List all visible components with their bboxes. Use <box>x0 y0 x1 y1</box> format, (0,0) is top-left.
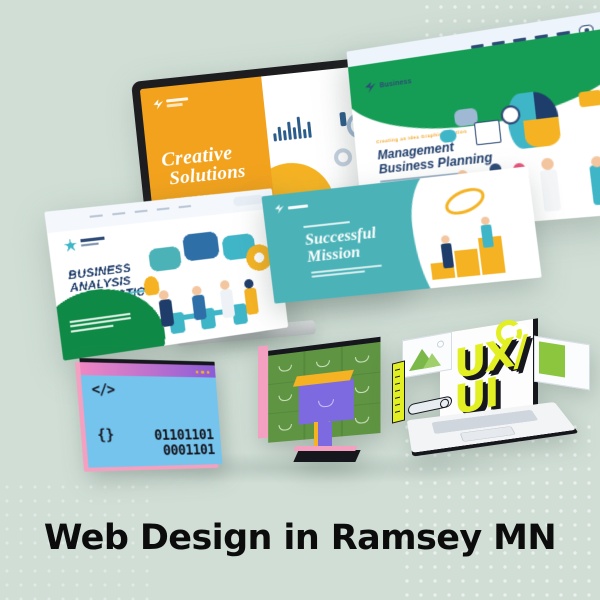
person-figure <box>540 169 561 212</box>
spark-icon <box>153 99 164 110</box>
person-figure <box>192 294 207 320</box>
binary-text: 01101101 0001101 <box>154 427 216 458</box>
speech-bubble <box>182 231 220 262</box>
person-figure <box>589 164 600 205</box>
bar-chart-graphic <box>271 112 312 142</box>
illustration-stage: Creative Solutions Digital Web Solutions… <box>0 0 600 600</box>
curly-brace-icon: {} <box>97 426 115 444</box>
star-icon <box>64 239 78 252</box>
monitor-headline: Creative Solutions <box>160 143 246 189</box>
cabinet-base <box>293 450 360 462</box>
tag-graphic <box>578 90 600 108</box>
ruler-icon <box>392 360 405 423</box>
binary-line-2: 0001101 <box>162 441 215 459</box>
card-logo-text <box>80 237 105 249</box>
gear-icon <box>333 147 353 167</box>
cabinet-side-panel <box>258 345 268 438</box>
uxui-laptop-illustration: UX/ UI <box>392 318 592 483</box>
browser-titlebar[interactable] <box>79 358 215 378</box>
page-title: Web Design in Ramsey MN <box>0 518 600 558</box>
spark-icon <box>365 81 377 93</box>
person-figure <box>159 299 175 327</box>
logo-text-bar-secondary <box>167 103 183 107</box>
spark-icon <box>275 204 285 214</box>
person-figure <box>220 289 235 319</box>
blob-paragraph <box>70 313 132 335</box>
sun-icon <box>437 340 444 348</box>
code-tag-icon: </> <box>91 380 115 398</box>
wireframe-panel <box>534 336 590 391</box>
person-figure <box>339 112 346 127</box>
code-browser-window: </> {} 01101101 0001101 <box>79 358 222 468</box>
speech-bubble <box>439 129 457 143</box>
clipboard-graphic <box>474 119 502 145</box>
wireframe-block <box>539 341 565 377</box>
person-figure <box>244 287 259 315</box>
monitor-logo <box>153 96 190 110</box>
open-drawer <box>299 379 354 425</box>
loop-graphic <box>441 183 489 220</box>
step-block <box>454 249 480 278</box>
card-logo-text <box>288 205 308 210</box>
logo-text-bar <box>166 97 188 102</box>
speech-bubble <box>148 246 182 272</box>
window-controls[interactable] <box>196 371 210 374</box>
mission-illustration <box>414 166 542 288</box>
person-figure <box>440 243 453 268</box>
mountain-icon-small <box>423 352 441 369</box>
file-cabinet-illustration <box>258 338 388 468</box>
person-figure <box>480 224 493 248</box>
lightbulb-icon <box>143 276 160 296</box>
team-meeting-illustration <box>135 216 286 345</box>
card-logo <box>64 235 106 251</box>
